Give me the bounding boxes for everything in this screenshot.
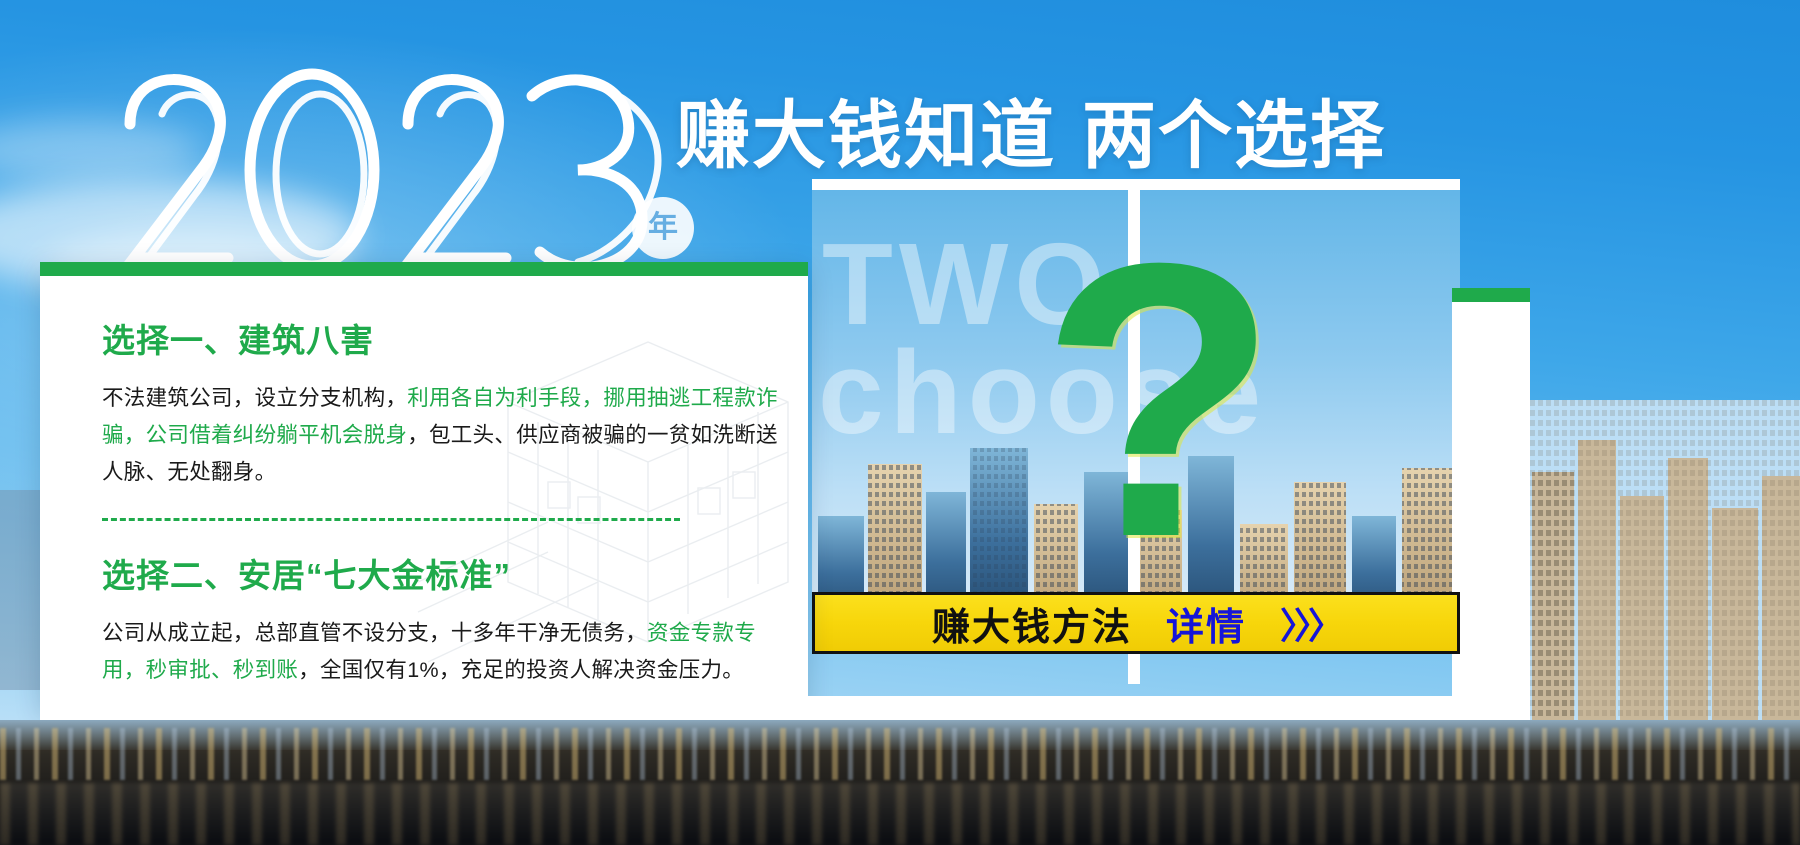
white-pillar-right: [1452, 288, 1530, 708]
year-unit-badge: 年: [632, 197, 694, 259]
card-top-bar: [40, 262, 808, 276]
right-skyline: [1530, 400, 1800, 720]
section-1-title: 选择一、建筑八害: [102, 314, 784, 362]
waterfront-lights: [0, 728, 1800, 780]
section-2-title: 选择二、安居“七大金标准”: [102, 549, 784, 597]
section-1-text-a: 不法建筑公司，设立分支机构，: [102, 386, 407, 410]
section-1-body: 不法建筑公司，设立分支机构，利用各自为利手段，挪用抽逃工程款诈骗，公司借着纠纷躺…: [102, 380, 782, 492]
cta-button[interactable]: 赚大钱方法 详情 〉〉〉: [812, 592, 1460, 654]
section-divider: [102, 518, 680, 521]
chevron-right-icon: 〉〉〉: [1280, 597, 1340, 649]
card-content: 选择一、建筑八害 不法建筑公司，设立分支机构，利用各自为利手段，挪用抽逃工程款诈…: [102, 314, 784, 689]
cta-main-label: 赚大钱方法: [932, 596, 1132, 651]
white-pillar-right-cap: [1452, 288, 1530, 302]
cta-detail-label: 详情: [1166, 596, 1246, 651]
section-2-body: 公司从成立起，总部直管不设分支，十多年干净无债务，资金专款专用，秒审批、秒到账，…: [102, 615, 782, 689]
waterfront-strip: [0, 720, 1800, 845]
headline-part-2: 两个选择: [1082, 94, 1386, 177]
right-skyline-svg: [1530, 400, 1800, 720]
section-2-text-c: ，全国仅有1%，充足的投资人解决资金压力。: [298, 658, 744, 682]
year-2023-svg: [108, 62, 708, 282]
section-2-text-a: 公司从成立起，总部直管不设分支，十多年干净无债务，: [102, 621, 647, 645]
content-card: 选择一、建筑八害 不法建筑公司，设立分支机构，利用各自为利手段，挪用抽逃工程款诈…: [40, 262, 808, 712]
year-2023-graphic: [108, 62, 708, 282]
waterfront-reflection: [0, 783, 1800, 845]
promo-banner: 年 赚大钱知道两个选择 TWO choose: [0, 0, 1800, 845]
year-unit-label: 年: [648, 213, 678, 243]
headline: 赚大钱知道两个选择: [676, 76, 1386, 183]
question-mark-graphic: ?: [1040, 205, 1278, 595]
headline-part-1: 赚大钱知道: [676, 94, 1056, 177]
